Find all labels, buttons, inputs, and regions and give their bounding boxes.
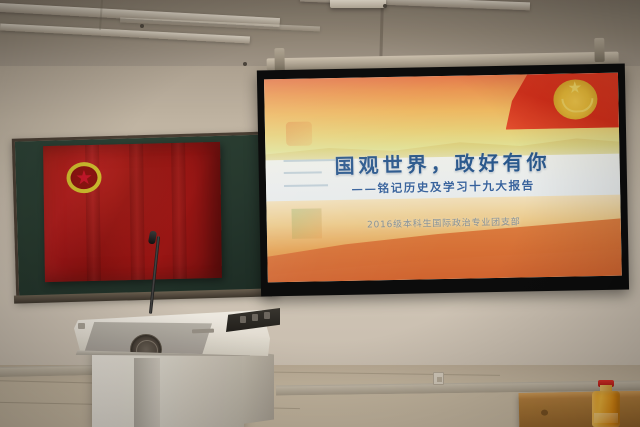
screen-bracket xyxy=(274,48,284,72)
ceiling-fixture-dot xyxy=(383,4,387,8)
lectern-body xyxy=(92,346,244,427)
flag-fold xyxy=(171,143,187,279)
lectern-center-column xyxy=(134,358,160,427)
star-icon xyxy=(76,169,92,185)
communist-youth-league-flag xyxy=(43,142,222,282)
classroom-photo: 国观世界，政好有你 ——铭记历史及学习十九大报告 2016级本科生国际政治专业团… xyxy=(0,0,640,427)
lectern-front-panel xyxy=(84,322,212,356)
slide-decoration-seal xyxy=(286,121,312,145)
orange-juice-bottle xyxy=(592,380,620,427)
lectern-slot xyxy=(192,329,214,334)
slide-canvas: 国观世界，政好有你 ——铭记历史及学习十九大报告 2016级本科生国际政治专业团… xyxy=(264,73,622,283)
screen-bracket xyxy=(594,38,604,62)
screen-frame: 国观世界，政好有你 ——铭记历史及学习十九大报告 2016级本科生国际政治专业团… xyxy=(257,63,629,296)
bottle-label xyxy=(594,413,618,423)
projector-mount xyxy=(330,0,386,8)
console-key[interactable] xyxy=(252,314,258,321)
desk-edge xyxy=(519,391,640,399)
wall-power-outlet[interactable] xyxy=(433,372,444,385)
projection-screen: 国观世界，政好有你 ——铭记历史及学习十九大报告 2016级本科生国际政治专业团… xyxy=(257,63,629,302)
ceiling-fixture-dot xyxy=(243,62,247,66)
lectern-side-panel xyxy=(242,350,274,424)
flag-fold xyxy=(129,144,145,280)
lectern-button[interactable] xyxy=(78,323,85,329)
bottle-body xyxy=(592,391,620,427)
desk-knob xyxy=(541,410,548,416)
console-key[interactable] xyxy=(240,316,246,323)
console-key[interactable] xyxy=(264,312,270,319)
floor-tile-line xyxy=(240,371,500,376)
wooden-desk xyxy=(519,391,640,427)
lectern xyxy=(74,306,270,427)
ceiling-fixture-dot xyxy=(140,24,144,28)
